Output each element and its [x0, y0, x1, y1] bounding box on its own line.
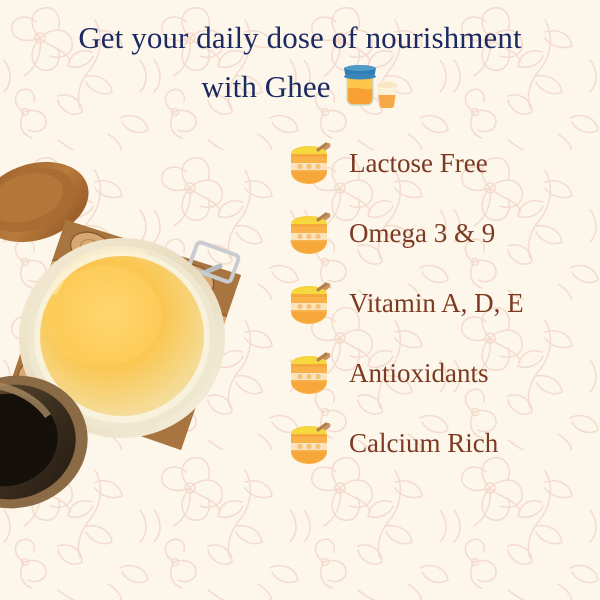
ghee-jar-emoji [337, 59, 399, 120]
ghee-benefits-poster: Get your daily dose of nourishment with … [0, 0, 600, 600]
benefit-label: Calcium Rich [349, 430, 498, 457]
list-item: Omega 3 & 9 [285, 198, 600, 268]
headline-line-2-wrap: with Ghee [0, 59, 600, 120]
benefit-label: Lactose Free [349, 150, 488, 177]
headline: Get your daily dose of nourishment with … [0, 18, 600, 120]
benefit-label: Vitamin A, D, E [349, 290, 524, 317]
ghee-bowl-icon [285, 141, 333, 185]
ghee-jar-photograph [0, 150, 296, 510]
list-item: Lactose Free [285, 128, 600, 198]
list-item: Vitamin A, D, E [285, 268, 600, 338]
ghee-bowl-icon [285, 281, 333, 325]
benefit-label: Antioxidants [349, 360, 489, 387]
list-item: Calcium Rich [285, 408, 600, 478]
benefits-list: Lactose Free Omega [285, 128, 600, 478]
benefit-label: Omega 3 & 9 [349, 220, 495, 247]
ghee-bowl-icon [285, 421, 333, 465]
list-item: Antioxidants [285, 338, 600, 408]
headline-line-2: with Ghee [201, 69, 330, 104]
ghee-bowl-icon [285, 211, 333, 255]
ghee-bowl-icon [285, 351, 333, 395]
headline-line-1: Get your daily dose of nourishment [78, 20, 521, 55]
